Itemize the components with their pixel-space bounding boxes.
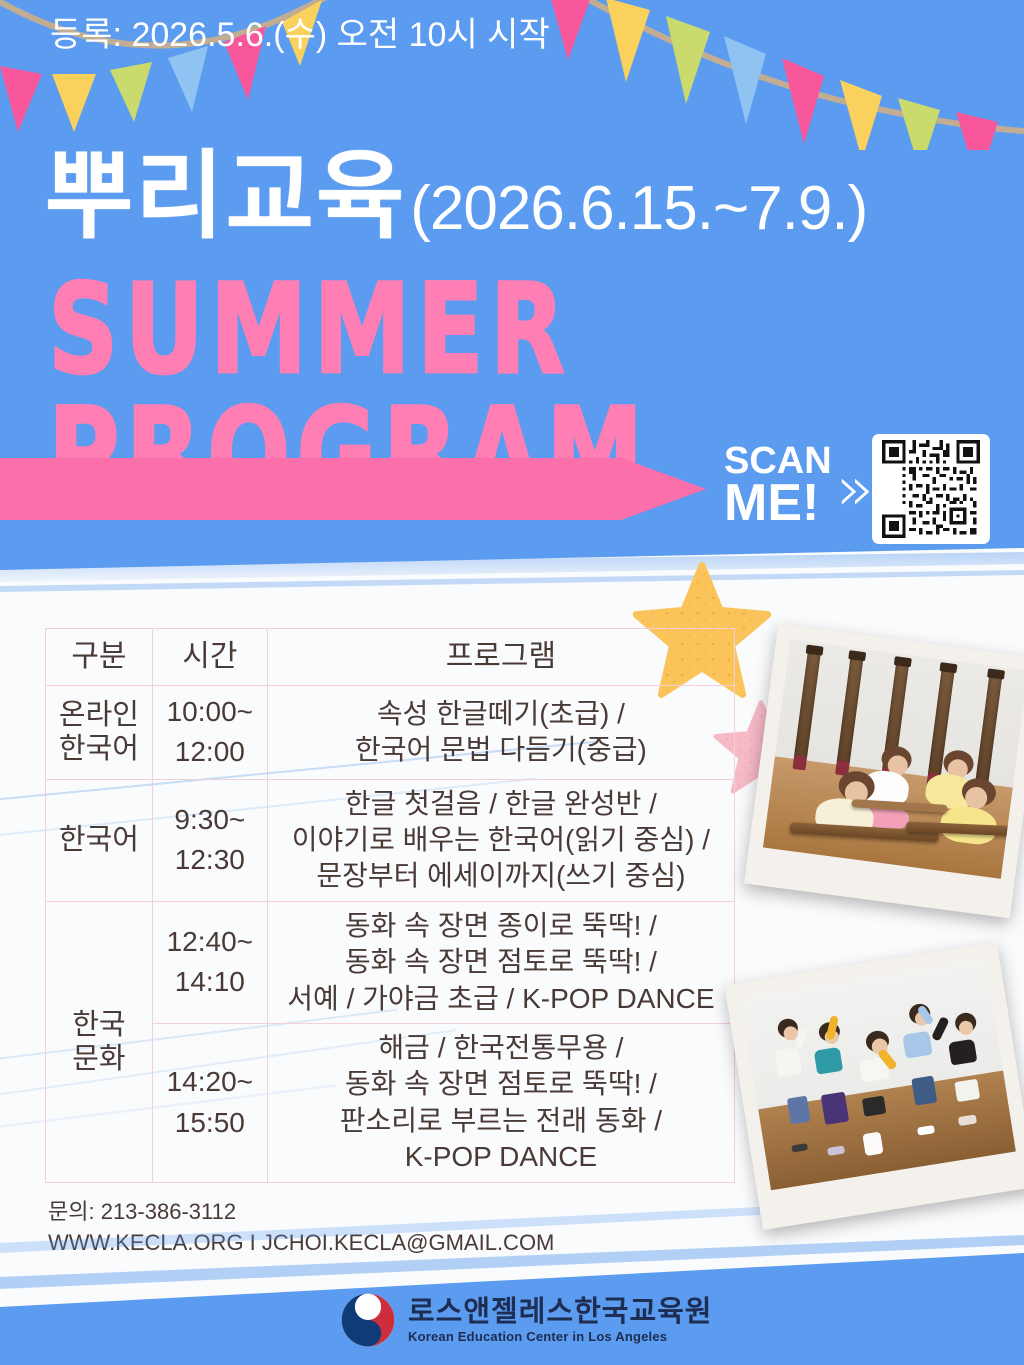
gubun-line: 문화 xyxy=(50,1042,148,1076)
time-line: 12:30 xyxy=(157,840,263,881)
cell-gubun: 한국어 xyxy=(46,779,153,901)
time-line: 14:10 xyxy=(157,962,263,1003)
poster-root: 뿌리교육 (2026.6.15.~7.9.) SUMMER PROGRAM 등록… xyxy=(0,0,1024,1365)
program-line: 동화 속 장면 점토로 뚝딱! / xyxy=(272,1066,730,1102)
scan-line-2: ME! xyxy=(724,479,832,529)
table-header-row: 구분 시간 프로그램 xyxy=(46,629,735,686)
registration-banner xyxy=(0,458,706,520)
cell-gubun: 온라인 한국어 xyxy=(46,685,153,779)
footer-logo: 로스앤젤레스한국교육원 Korean Education Center in L… xyxy=(340,1292,712,1348)
gubun-line: 한국어 xyxy=(50,732,148,766)
program-line: 동화 속 장면 종이로 뚝딱! / xyxy=(272,908,730,944)
title-korean: 뿌리교육 xyxy=(45,148,406,244)
col-header-gubun: 구분 xyxy=(46,629,153,686)
program-line: 문장부터 에세이까지(쓰기 중심) xyxy=(272,858,730,894)
time-line: 9:30~ xyxy=(157,800,263,841)
cell-program: 속성 한글떼기(초급) / 한국어 문법 다듬기(중급) xyxy=(267,685,734,779)
footer-logo-english: Korean Education Center in Los Angeles xyxy=(408,1329,712,1344)
program-line: 동화 속 장면 점토로 뚝딱! / xyxy=(272,944,730,980)
time-line: 12:00 xyxy=(157,732,263,773)
scan-me-label: SCAN ME! xyxy=(724,443,832,529)
cell-time: 10:00~ 12:00 xyxy=(152,685,267,779)
col-header-program: 프로그램 xyxy=(267,629,734,686)
registration-text: 등록: 2026.5.6.(수) 오전 10시 시작 xyxy=(50,0,550,62)
taegeuk-icon xyxy=(340,1292,396,1348)
qr-code[interactable] xyxy=(872,434,990,544)
table-row: 온라인 한국어 10:00~ 12:00 속성 한글떼기(초급) / 한국어 문… xyxy=(46,685,735,779)
gubun-line: 온라인 xyxy=(50,698,148,732)
cell-program: 동화 속 장면 종이로 뚝딱! / 동화 속 장면 점토로 뚝딱! / 서예 /… xyxy=(267,901,734,1023)
time-line: 14:20~ xyxy=(157,1062,263,1103)
photo-kpop-dance-image xyxy=(740,958,1016,1190)
title-date-range: (2026.6.15.~7.9.) xyxy=(410,173,867,244)
gubun-line: 한국어 xyxy=(50,823,148,857)
chevron-right-icon: » xyxy=(836,452,874,525)
table-row: 한국어 9:30~ 12:30 한글 첫걸음 / 한글 완성반 / 이야기로 배… xyxy=(46,779,735,901)
time-line: 12:40~ xyxy=(157,922,263,963)
cell-time: 12:40~ 14:10 xyxy=(152,901,267,1023)
program-line: 한국어 문법 다듬기(중급) xyxy=(272,732,730,768)
program-line: 한글 첫걸음 / 한글 완성반 / xyxy=(272,786,730,822)
time-line: 15:50 xyxy=(157,1103,263,1144)
table-row: 한국 문화 12:40~ 14:10 동화 속 장면 종이로 뚝딱! / 동화 … xyxy=(46,901,735,1023)
footer-logo-text: 로스앤젤레스한국교육원 Korean Education Center in L… xyxy=(408,1296,712,1344)
col-header-time: 시간 xyxy=(152,629,267,686)
cell-time: 9:30~ 12:30 xyxy=(152,779,267,901)
photo-kpop-dance xyxy=(724,942,1024,1230)
poster-title: 뿌리교육 (2026.6.15.~7.9.) xyxy=(45,148,867,244)
photo-gayageum xyxy=(744,624,1024,919)
footer-logo-korean: 로스앤젤레스한국교육원 xyxy=(408,1296,712,1326)
program-line: 판소리로 부르는 전래 동화 / xyxy=(272,1103,730,1139)
program-line: 이야기로 배우는 한국어(읽기 중심) / xyxy=(272,822,730,858)
gubun-line: 한국 xyxy=(50,1008,148,1042)
cell-gubun: 한국 문화 xyxy=(46,901,153,1182)
program-line: 속성 한글떼기(초급) / xyxy=(272,696,730,732)
banner-arrow-shape xyxy=(0,458,706,520)
photo-gayageum-image xyxy=(763,639,1024,879)
program-line: 서예 / 가야금 초급 / K-POP DANCE xyxy=(272,981,730,1017)
cell-time: 14:20~ 15:50 xyxy=(152,1024,267,1183)
cell-program: 한글 첫걸음 / 한글 완성반 / 이야기로 배우는 한국어(읽기 중심) / … xyxy=(267,779,734,901)
program-line: 해금 / 한국전통무용 / xyxy=(272,1030,730,1066)
schedule-table: 구분 시간 프로그램 온라인 한국어 10:00~ 12:00 속성 한글떼기(… xyxy=(45,628,735,1183)
cell-program: 해금 / 한국전통무용 / 동화 속 장면 점토로 뚝딱! / 판소리로 부르는… xyxy=(267,1024,734,1183)
program-line: K-POP DANCE xyxy=(272,1139,730,1175)
time-line: 10:00~ xyxy=(157,692,263,733)
